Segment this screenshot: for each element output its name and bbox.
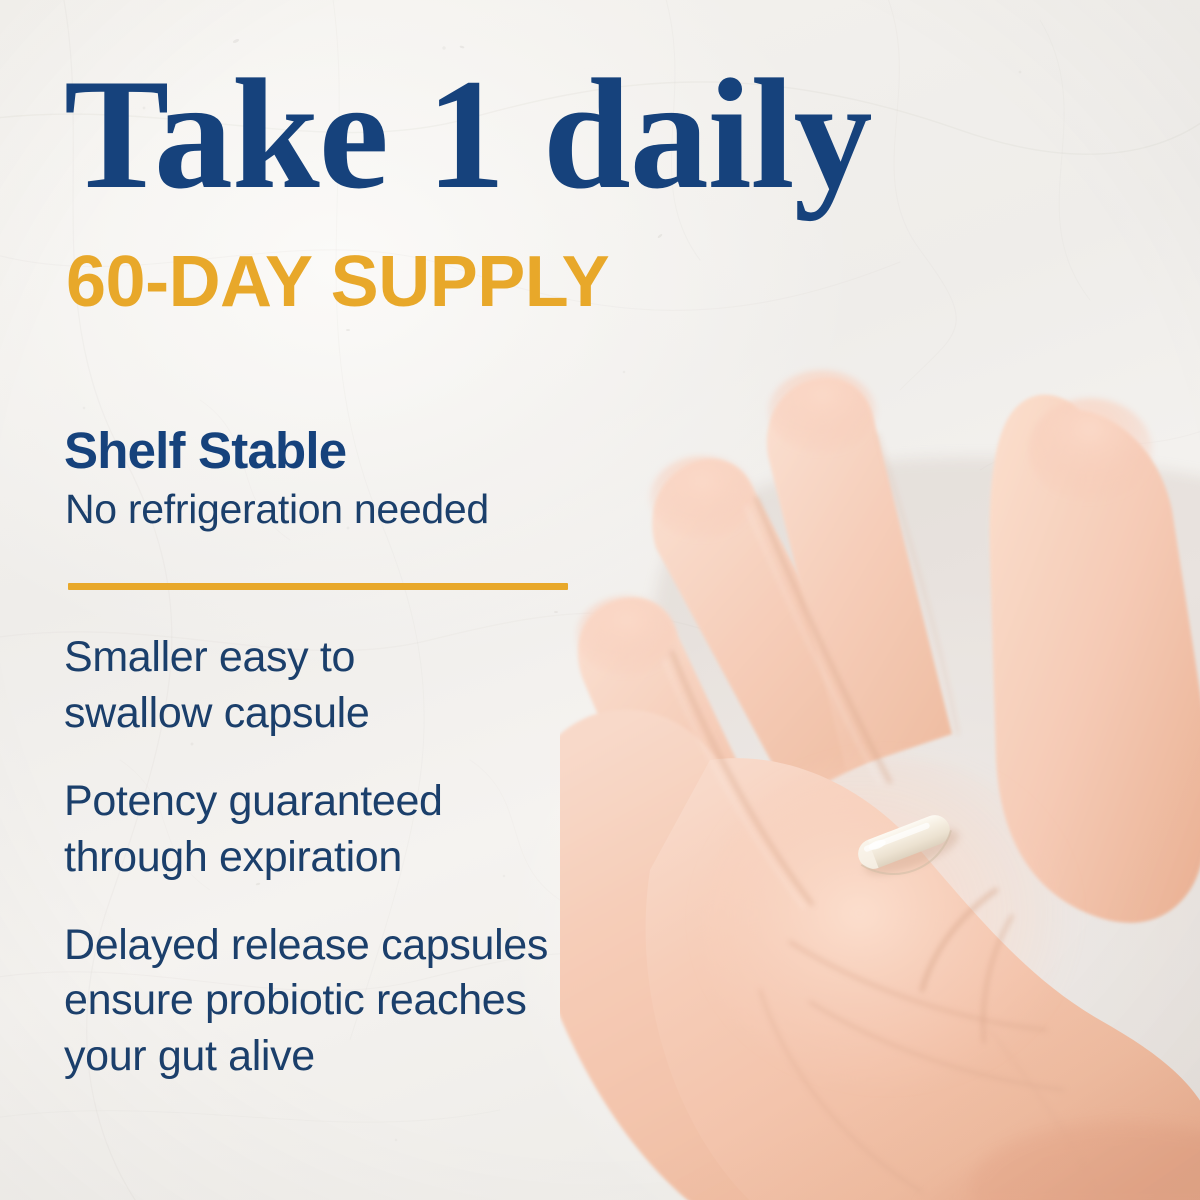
feature-subheading: No refrigeration needed: [65, 489, 489, 530]
supply-duration-label: 60-DAY SUPPLY: [66, 246, 609, 318]
page-title: Take 1 daily: [64, 56, 872, 214]
list-item: Delayed release capsules ensure probioti…: [64, 918, 764, 1086]
feature-heading: Shelf Stable: [64, 425, 346, 476]
list-item: Potency guaranteed through expiration: [64, 774, 764, 886]
list-item: Smaller easy to swallow capsule: [64, 630, 764, 742]
benefit-list: Smaller easy to swallow capsule Potency …: [64, 630, 764, 1085]
marketing-panel: Take 1 daily 60-DAY SUPPLY Shelf Stable …: [0, 0, 1200, 1200]
text-column: Take 1 daily 60-DAY SUPPLY Shelf Stable …: [64, 0, 764, 1200]
gold-divider: [68, 583, 568, 590]
